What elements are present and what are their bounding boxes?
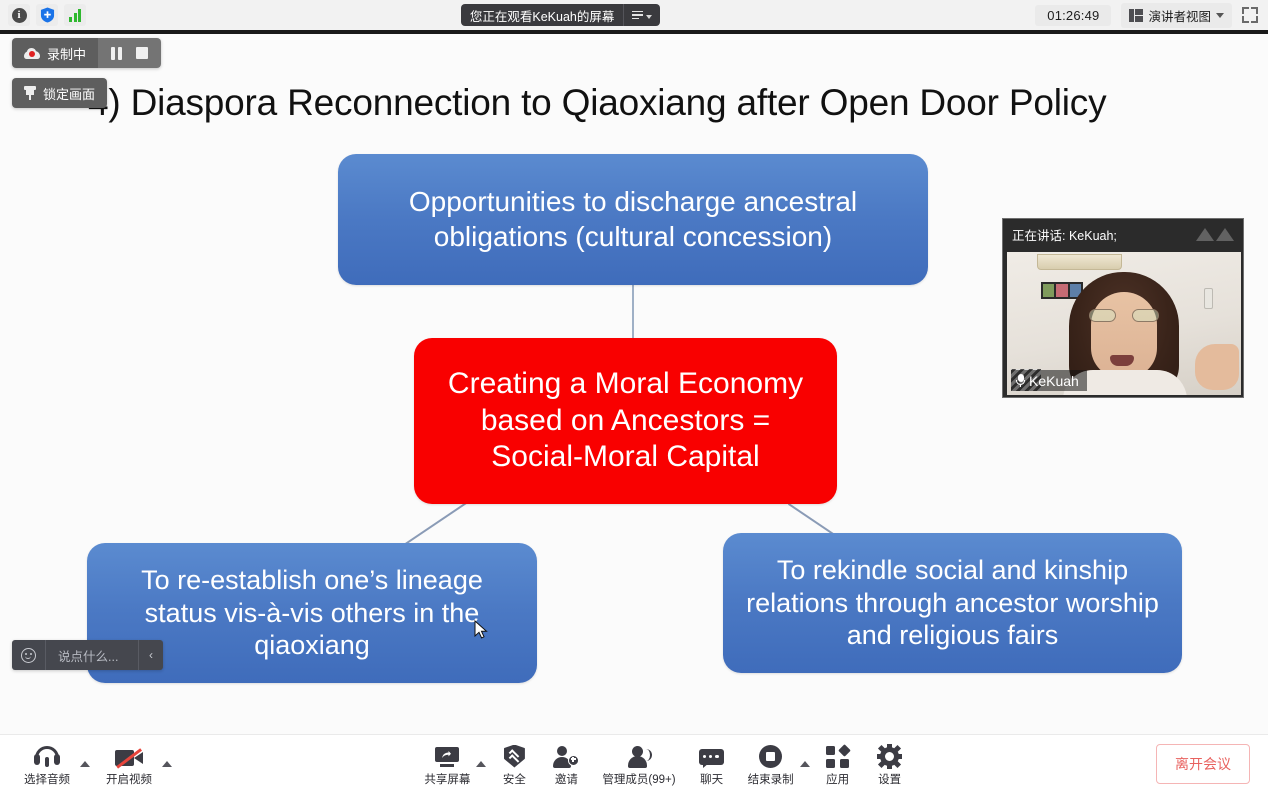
mouse-pointer xyxy=(474,620,488,640)
camera-off-icon xyxy=(115,742,143,768)
invite-person-icon xyxy=(553,742,579,768)
toolbar-button-stop-recording[interactable]: 结束录制 xyxy=(738,742,804,787)
toolbar-label-audio: 选择音频 xyxy=(24,771,70,787)
settings-gear-icon xyxy=(878,742,901,768)
participant-name-badge: KeKuah xyxy=(1011,370,1087,391)
toolbar-left-group: 选择音频 开启视频 xyxy=(0,742,174,787)
participant-mouth xyxy=(1110,355,1134,366)
chat-bubble-icon xyxy=(699,742,724,768)
exit-fullscreen-icon[interactable] xyxy=(1242,7,1258,23)
info-icon-glyph: i xyxy=(12,8,27,23)
toolbar-label-share-screen: 共享屏幕 xyxy=(424,771,470,787)
toolbar-label-settings: 设置 xyxy=(878,771,901,787)
chat-input[interactable]: 说点什么... xyxy=(46,640,138,670)
lock-screen-label: 锁定画面 xyxy=(43,84,95,103)
toolbar-button-participants[interactable]: 管理成员(99+) xyxy=(592,742,685,787)
top-bar-center: 您正在观看KeKuah的屏幕 xyxy=(86,4,1035,26)
shared-screen-stage: 4) Diaspora Reconnection to Qiaoxiang af… xyxy=(0,34,1268,734)
hamburger-menu-icon[interactable] xyxy=(623,4,660,26)
speaker-video-thumbnail[interactable]: 正在讲话: KeKuah; KeKuah xyxy=(1002,218,1244,398)
connector-top-to-center xyxy=(632,285,634,339)
share-screen-icon xyxy=(434,742,460,768)
quick-chat-bar: 说点什么... ‹ xyxy=(12,640,163,670)
video-feed: KeKuah xyxy=(1007,252,1241,395)
layout-icon xyxy=(1129,9,1143,22)
toolbar-right-group: 离开会议 xyxy=(1156,744,1268,784)
toolbar-button-chat[interactable]: 聊天 xyxy=(686,742,738,787)
toolbar-button-apps[interactable]: 应用 xyxy=(812,742,864,787)
top-bar-left-icons: i xyxy=(0,4,86,26)
meeting-timer: 01:26:49 xyxy=(1035,5,1111,26)
audio-wave-icon xyxy=(1196,228,1234,241)
audio-options-caret-icon[interactable] xyxy=(80,761,90,767)
signal-bars-icon[interactable] xyxy=(64,4,86,26)
air-conditioner xyxy=(1037,254,1122,270)
manage-participants-icon xyxy=(626,742,652,768)
eyeglasses xyxy=(1089,309,1159,322)
toolbar-label-participants: 管理成员(99+) xyxy=(602,771,675,787)
share-options-caret-icon[interactable] xyxy=(476,761,486,767)
smiley-glyph xyxy=(21,648,36,663)
toolbar-button-settings[interactable]: 设置 xyxy=(864,742,916,787)
pause-icon[interactable] xyxy=(111,47,122,60)
info-icon[interactable]: i xyxy=(8,4,30,26)
screen-share-notice-label: 您正在观看KeKuah的屏幕 xyxy=(461,6,623,25)
shield-plus-icon-svg xyxy=(40,7,55,23)
stop-icon[interactable] xyxy=(136,47,148,59)
diagram-node-top: Opportunities to discharge ancestral obl… xyxy=(338,154,928,285)
toolbar-label-chat: 聊天 xyxy=(700,771,723,787)
recording-status: 录制中 xyxy=(12,38,98,68)
toolbar-label-invite: 邀请 xyxy=(555,771,578,787)
toolbar-label-stop-recording: 结束录制 xyxy=(748,771,794,787)
diagram-node-center: Creating a Moral Economy based on Ancest… xyxy=(414,338,837,504)
view-mode-selector[interactable]: 演讲者视图 xyxy=(1121,3,1232,28)
apps-icon xyxy=(826,742,849,768)
hamburger-menu-glyph xyxy=(632,11,643,20)
speaking-indicator: 正在讲话: KeKuah; xyxy=(1003,219,1243,250)
toolbar-label-apps: 应用 xyxy=(826,771,849,787)
toolbar-button-security[interactable]: 安全 xyxy=(488,742,540,787)
toolbar-button-share-screen[interactable]: 共享屏幕 xyxy=(414,742,480,787)
pin-icon xyxy=(24,86,36,100)
chevron-down-icon xyxy=(646,15,652,19)
microphone-icon xyxy=(1016,374,1025,387)
smiley-icon[interactable] xyxy=(12,640,46,670)
video-options-caret-icon[interactable] xyxy=(162,761,172,767)
meeting-toolbar: 选择音频 开启视频 共享屏幕 xyxy=(0,734,1268,793)
toolbar-button-audio[interactable]: 选择音频 xyxy=(14,742,80,787)
participant-hand xyxy=(1195,344,1239,390)
stop-recording-icon xyxy=(759,742,782,768)
wall-switch xyxy=(1204,288,1213,309)
chat-collapse-button[interactable]: ‹ xyxy=(138,640,163,670)
headset-icon xyxy=(34,742,60,768)
lock-screen-button[interactable]: 锁定画面 xyxy=(12,78,107,108)
toolbar-center-group: 共享屏幕 安全 邀请 管理成员(99+) xyxy=(174,742,1156,787)
leave-meeting-button[interactable]: 离开会议 xyxy=(1156,744,1250,784)
toolbar-button-invite[interactable]: 邀请 xyxy=(540,742,592,787)
speaking-label: 正在讲话: KeKuah; xyxy=(1012,225,1117,244)
signal-bars-glyph xyxy=(69,9,81,22)
top-bar-right: 01:26:49 演讲者视图 xyxy=(1035,3,1268,28)
slide-title: 4) Diaspora Reconnection to Qiaoxiang af… xyxy=(88,82,1178,124)
diagram-node-right: To rekindle social and kinship relations… xyxy=(723,533,1182,673)
recording-options-caret-icon[interactable] xyxy=(800,761,810,767)
shield-plus-icon[interactable] xyxy=(36,4,58,26)
toolbar-label-video: 开启视频 xyxy=(106,771,152,787)
recording-control-bar: 录制中 xyxy=(12,38,161,68)
zoom-meeting-window: i 您正在观看KeKuah的屏幕 xyxy=(0,0,1268,793)
cloud-record-icon xyxy=(24,48,40,59)
security-shield-icon xyxy=(504,742,525,768)
recording-status-label: 录制中 xyxy=(47,44,86,63)
participant-name-label: KeKuah xyxy=(1029,373,1079,389)
toolbar-button-video[interactable]: 开启视频 xyxy=(96,742,162,787)
screen-share-notice: 您正在观看KeKuah的屏幕 xyxy=(461,4,660,26)
view-mode-label: 演讲者视图 xyxy=(1148,6,1211,25)
toolbar-label-security: 安全 xyxy=(503,771,526,787)
recording-controls xyxy=(98,38,161,68)
top-bar: i 您正在观看KeKuah的屏幕 xyxy=(0,0,1268,30)
chevron-down-icon xyxy=(1216,13,1224,18)
